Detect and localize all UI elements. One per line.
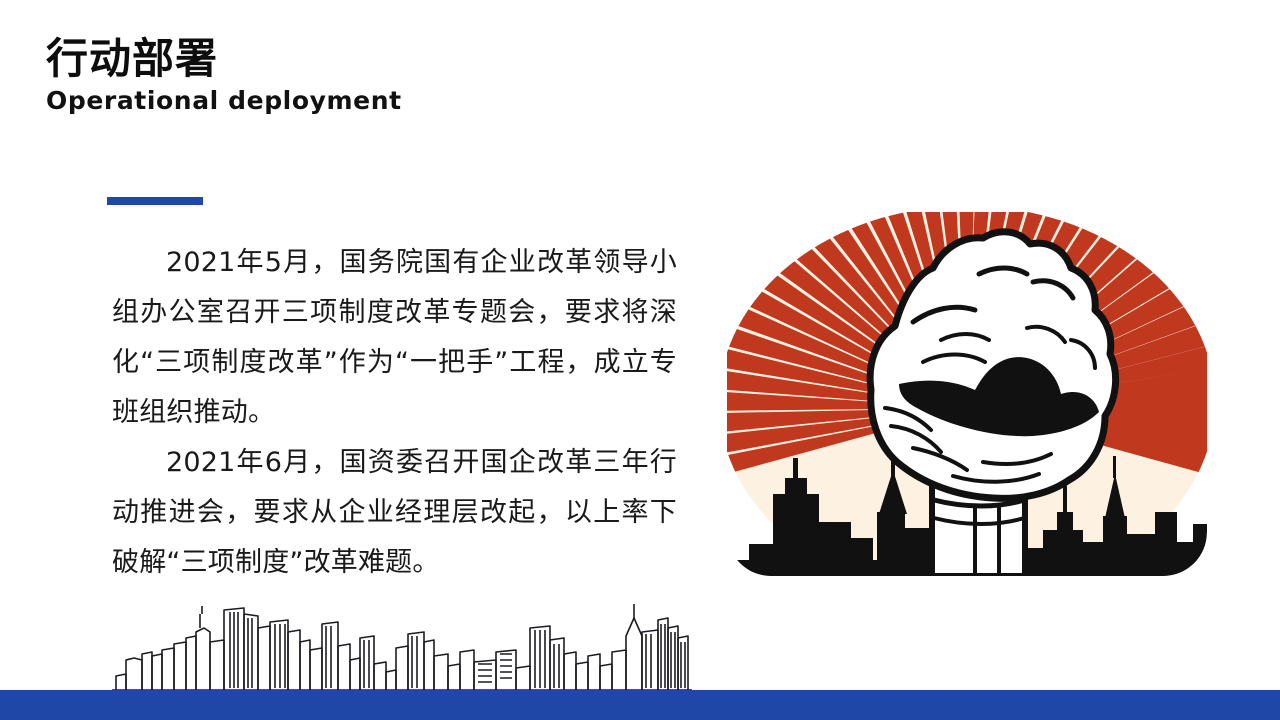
page-title-block: 行动部署 Operational deployment xyxy=(46,36,746,116)
bottom-band xyxy=(0,690,1280,720)
raised-fist-poster-image xyxy=(727,212,1207,576)
slide-canvas: 行动部署 Operational deployment 2021年5月，国务院国… xyxy=(0,0,1280,720)
paragraph-1: 2021年5月，国务院国有企业改革领导小组办公室召开三项制度改革专题会，要求将深… xyxy=(112,238,677,438)
poster-artwork xyxy=(727,212,1207,576)
accent-rule xyxy=(107,197,203,205)
page-title: 行动部署 xyxy=(46,36,746,82)
skyline-artwork xyxy=(112,598,692,692)
page-subtitle: Operational deployment xyxy=(46,86,746,116)
city-skyline-drawing xyxy=(112,598,692,692)
paragraph-2: 2021年6月，国资委召开国企改革三年行动推进会，要求从企业经理层改起，以上率下… xyxy=(112,438,677,588)
body-copy: 2021年5月，国务院国有企业改革领导小组办公室召开三项制度改革专题会，要求将深… xyxy=(112,238,677,588)
